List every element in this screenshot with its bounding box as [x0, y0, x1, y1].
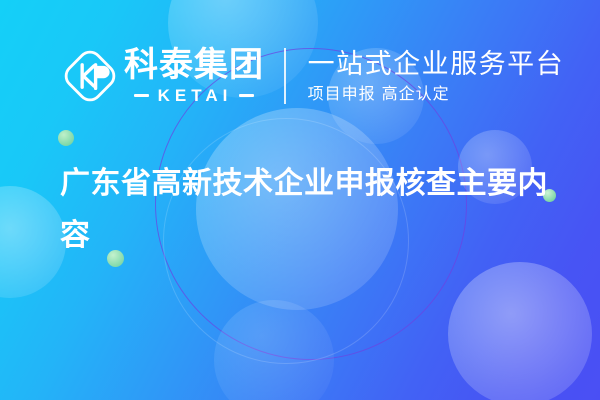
banner-header: 科泰集团 KETAI 一站式企业服务平台 项目申报 高企认定 [62, 40, 564, 112]
logo-company-name-en: KETAI [156, 87, 233, 104]
decor-circle-bottom-right [448, 262, 592, 400]
banner-title: 广东省高新技术企业申报核查主要内容 [60, 158, 560, 262]
tagline-secondary: 项目申报 高企认定 [308, 86, 565, 103]
tagline-block: 一站式企业服务平台 项目申报 高企认定 [308, 50, 565, 103]
logo-en-row: KETAI [124, 87, 264, 104]
logo-company-name-cn: 科泰集团 [124, 48, 264, 82]
ketai-kp-diamond-logo-icon [62, 48, 118, 104]
logo-rule-left [134, 94, 149, 97]
header-divider [284, 48, 286, 104]
logo-wordmark: 科泰集团 KETAI [124, 48, 264, 104]
decor-circle-left [0, 186, 66, 298]
tagline-primary: 一站式企业服务平台 [308, 50, 565, 79]
logo-rule-right [239, 94, 254, 97]
promo-banner: 科泰集团 KETAI 一站式企业服务平台 项目申报 高企认定 广东省高新技术企业… [0, 0, 600, 400]
decor-circle-lower-mid [214, 300, 334, 400]
decor-green-dot-upper-left [58, 130, 74, 146]
